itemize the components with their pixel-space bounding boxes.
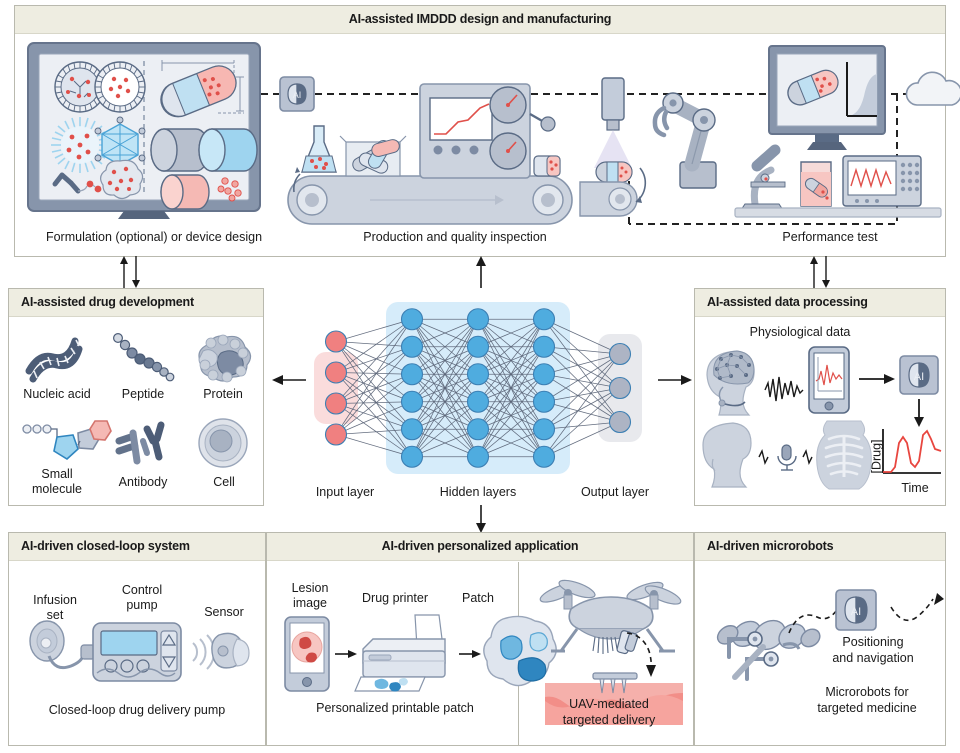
label-infusion-line1: Infusion xyxy=(17,593,93,608)
label-output-layer: Output layer xyxy=(560,485,670,500)
arrow-phone-to-ai xyxy=(859,371,895,387)
caption-production: Production and quality inspection xyxy=(305,230,605,245)
neural-network-diagram xyxy=(300,288,656,488)
antibody-icon xyxy=(113,417,175,469)
cell-icon xyxy=(195,417,251,469)
lesion-image-phone xyxy=(283,615,331,693)
peptide-chain-icon xyxy=(109,331,177,385)
label-control-line1: Control xyxy=(97,583,187,598)
subtitle-physiological-data: Physiological data xyxy=(705,325,895,340)
drug-printer-icon xyxy=(355,611,457,697)
panel-drug-development: AI-assisted drug development Nucleic aci… xyxy=(8,288,264,506)
voice-head-icon xyxy=(703,419,759,489)
panel-title-imddd: AI-assisted IMDDD design and manufacturi… xyxy=(15,12,945,26)
arrow-network-to-personalized xyxy=(473,505,489,533)
arrow-top-drug-bidirectional xyxy=(118,256,148,288)
label-peptide: Peptide xyxy=(101,387,185,402)
small-molecule-icon xyxy=(21,417,111,469)
label-lesion-line1: Lesion xyxy=(275,581,345,596)
caption-uav-line2: targeted delivery xyxy=(523,713,695,728)
arrow-printer-to-patch xyxy=(459,647,481,661)
label-small-molecule-line1: Small xyxy=(11,467,103,482)
chart-ylabel-drug: [Drug] xyxy=(870,434,885,480)
infusion-pump-assembly xyxy=(23,621,251,689)
label-lesion-line2: image xyxy=(275,596,345,611)
panel-personalized-application: AI-driven personalized application Lesio… xyxy=(266,532,694,746)
arrow-network-to-top xyxy=(473,256,489,288)
ai-badge-data: AI xyxy=(899,355,939,395)
arrow-phone-to-printer xyxy=(335,647,357,661)
panel-imddd-manufacturing: AI-assisted IMDDD design and manufacturi… xyxy=(14,5,946,257)
chart-xlabel-time: Time xyxy=(887,481,943,496)
phone-vitals-icon xyxy=(807,345,851,415)
label-drug-printer: Drug printer xyxy=(345,591,445,606)
caption-uav-line1: UAV-mediated xyxy=(523,697,695,712)
production-line xyxy=(280,64,580,224)
panel-title-microrobots: AI-driven microrobots xyxy=(707,539,833,553)
eeg-waveform xyxy=(765,373,805,407)
svg-text:AI: AI xyxy=(851,606,861,618)
label-antibody: Antibody xyxy=(101,475,185,490)
arrow-top-data-bidirectional xyxy=(808,256,838,288)
label-nucleic-acid: Nucleic acid xyxy=(11,387,103,402)
label-positioning: Positioning xyxy=(807,635,939,650)
panel-data-processing: AI-assisted data processing Physiologica… xyxy=(694,288,946,506)
panel-title-personalized: AI-driven personalized application xyxy=(267,539,693,553)
panel-title-drug: AI-assisted drug development xyxy=(21,295,194,309)
arrow-network-to-data xyxy=(658,372,692,388)
panel-title-data: AI-assisted data processing xyxy=(707,295,868,309)
caption-formulation-design: Formulation (optional) or device design xyxy=(15,230,293,245)
label-patch: Patch xyxy=(445,591,511,606)
label-cell: Cell xyxy=(189,475,259,490)
figure-root: AI-assisted IMDDD design and manufacturi… xyxy=(0,0,960,753)
protein-blob-icon xyxy=(191,331,257,385)
eeg-head-icon xyxy=(703,345,765,417)
formulation-monitor xyxy=(22,41,272,221)
cloud-icon xyxy=(903,69,960,111)
microphone-icon xyxy=(759,441,815,473)
caption-performance-test: Performance test xyxy=(715,230,945,245)
caption-closed-loop-pump: Closed-loop drug delivery pump xyxy=(17,703,257,718)
label-sensor: Sensor xyxy=(189,605,259,620)
label-small-molecule-line2: molecule xyxy=(11,482,103,497)
panel-title-closed-loop: AI-driven closed-loop system xyxy=(21,539,190,553)
label-protein: Protein xyxy=(185,387,261,402)
drug-time-chart xyxy=(877,427,943,487)
label-hidden-layers: Hidden layers xyxy=(418,485,538,500)
caption-microrobots-line1: Microrobots for xyxy=(795,685,939,700)
caption-microrobots-line2: targeted medicine xyxy=(795,701,939,716)
caption-printable-patch: Personalized printable patch xyxy=(271,701,519,716)
dna-helix-icon xyxy=(23,331,91,385)
ai-badge-microrobots: AI xyxy=(835,589,877,631)
svg-text:AI: AI xyxy=(914,371,924,383)
label-input-layer: Input layer xyxy=(295,485,395,500)
label-control-line2: pump xyxy=(97,598,187,613)
performance-bench xyxy=(735,138,941,222)
panel-microrobots: AI-driven microrobots xyxy=(694,532,946,746)
label-navigation: and navigation xyxy=(807,651,939,666)
panel-closed-loop: AI-driven closed-loop system Infusion se… xyxy=(8,532,266,746)
ribcage-xray-icon xyxy=(813,417,875,491)
arrow-ai-to-chart xyxy=(911,399,927,427)
